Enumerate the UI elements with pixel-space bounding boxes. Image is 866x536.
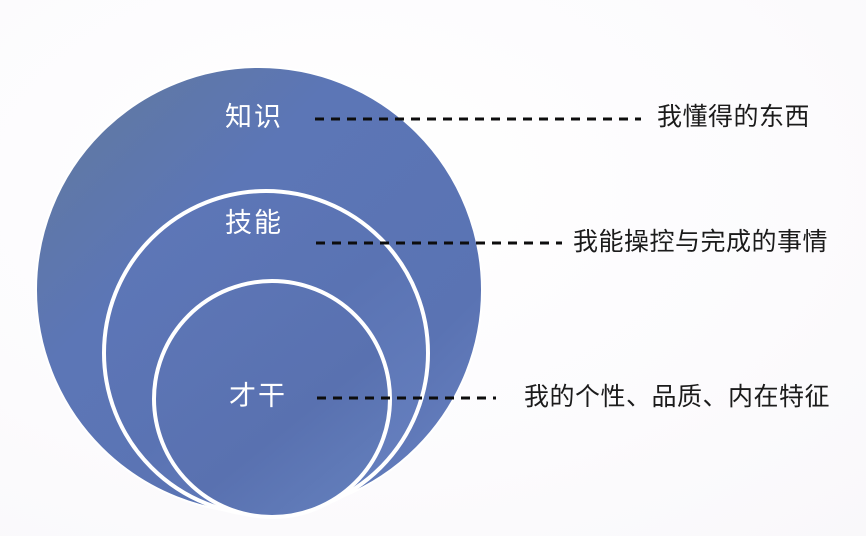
ring-label-talent: 才干 xyxy=(229,383,287,410)
description-knowledge: 我懂得的东西 xyxy=(657,105,810,130)
description-skill: 我能操控与完成的事情 xyxy=(573,230,828,255)
ring-label-skill: 技能 xyxy=(225,210,283,237)
description-talent: 我的个性、品质、内在特征 xyxy=(524,385,830,410)
nested-circles-diagram xyxy=(0,0,866,536)
diagram-canvas: 知识 技能 才干 我懂得的东西 我能操控与完成的事情 我的个性、品质、内在特征 xyxy=(0,0,866,536)
ring-label-knowledge: 知识 xyxy=(225,104,283,131)
